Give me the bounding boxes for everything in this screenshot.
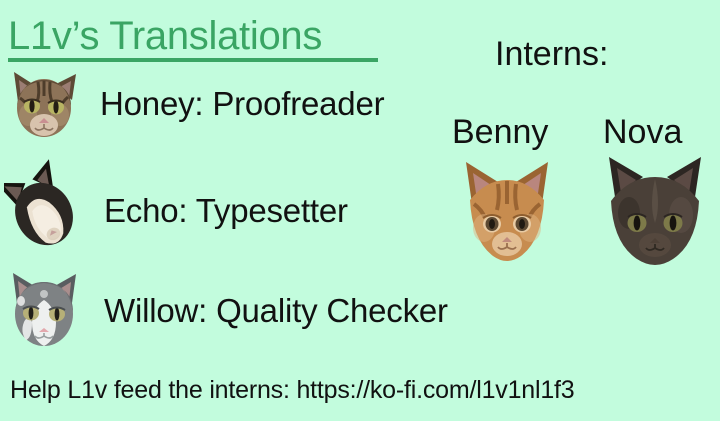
staff-row-echo: Echo: Typesetter [4,158,348,263]
staff-label-honey: Honey: Proofreader [100,86,384,122]
staff-label-echo: Echo: Typesetter [104,193,348,229]
support-link-text[interactable]: Help L1v feed the interns: https://ko-fi… [10,376,575,404]
staff-row-willow: Willow: Quality Checker [2,270,448,352]
title-underline [8,58,378,62]
page-title: L1v’s Translations [8,14,322,58]
staff-label-willow: Willow: Quality Checker [104,293,448,329]
tuxedo-cat-face-tilted-icon [4,158,86,263]
grey-and-white-cat-face-icon [2,270,86,352]
intern-name-benny: Benny [452,113,548,151]
ginger-kitten-face-icon [458,156,556,268]
intern-name-nova: Nova [603,113,682,151]
staff-row-honey: Honey: Proofreader [4,68,384,140]
dark-brown-cat-face-icon [601,153,709,271]
interns-heading: Interns: [495,35,608,73]
brown-tabby-cat-face-icon [4,68,84,140]
poster-canvas: L1v’s Translations [0,0,720,421]
